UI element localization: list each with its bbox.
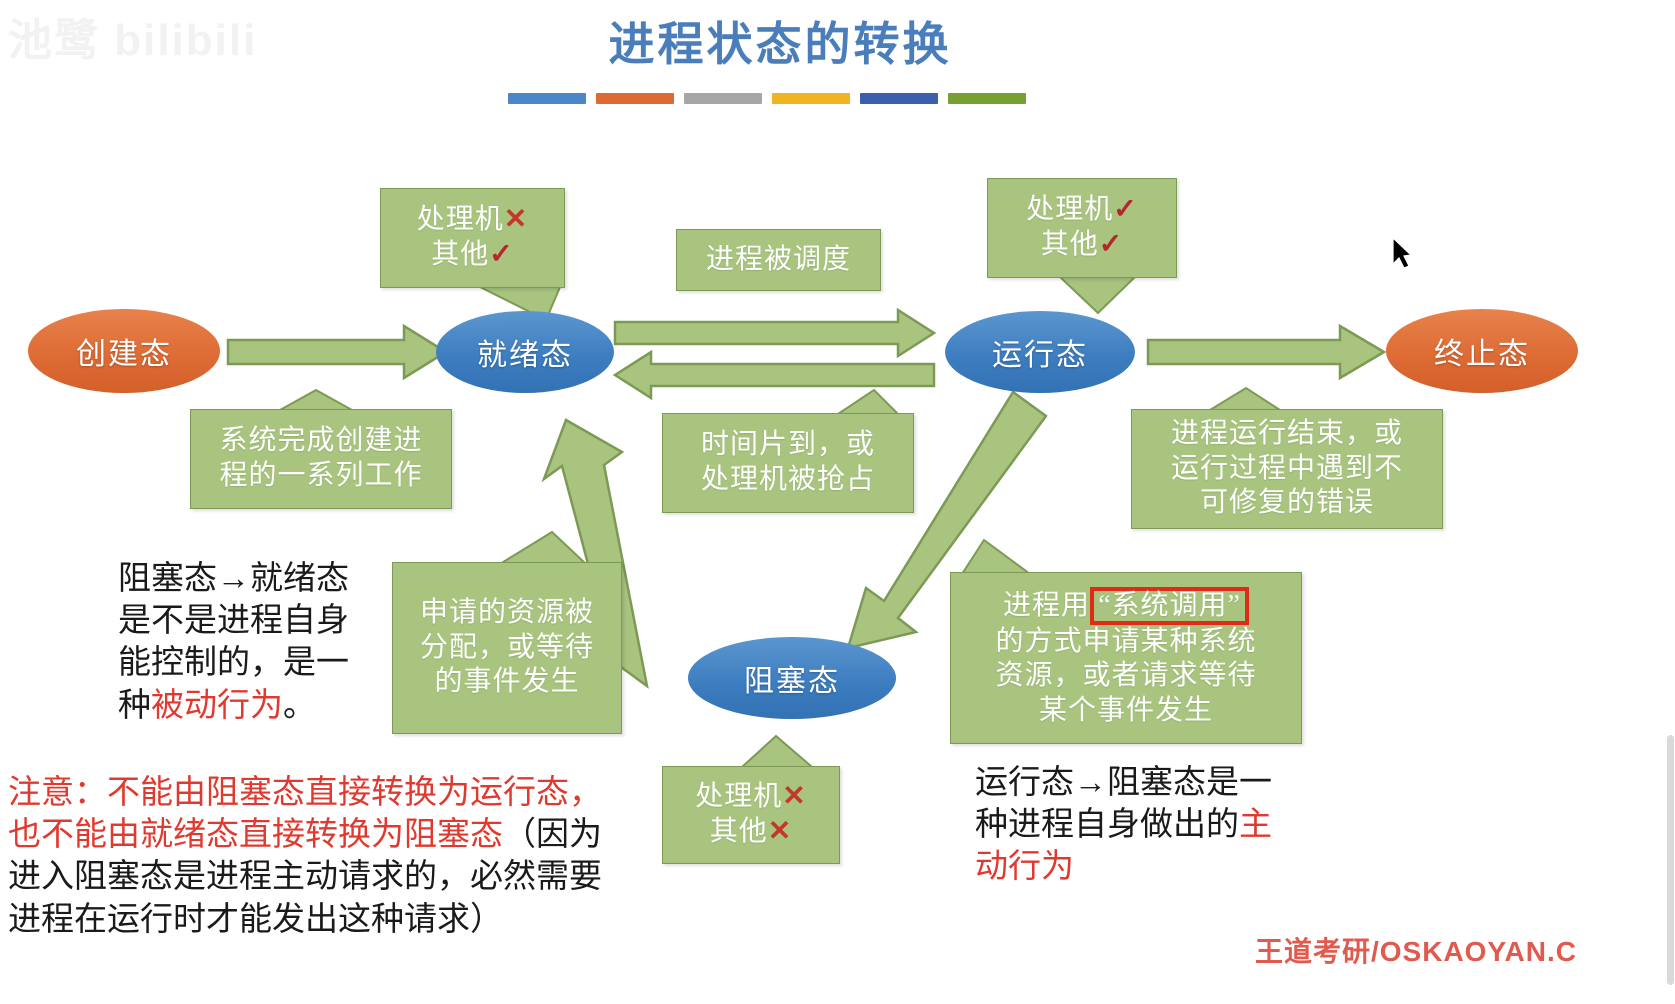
tail-running-to-blocked-box: [962, 540, 1030, 574]
slide-canvas: 池鹭 bilibili 进程状态的转换: [0, 0, 1675, 1004]
page-title: 进程状态的转换: [0, 8, 1560, 74]
note-left-line2: 是不是进程自身: [118, 600, 398, 642]
state-label-running: 运行态: [992, 330, 1088, 374]
blocked-res-mark2: ✕: [768, 816, 792, 847]
title-bar-1: [508, 93, 586, 104]
scrollbar-thumb[interactable]: [1667, 735, 1674, 985]
state-label-blocked: 阻塞态: [744, 656, 840, 700]
note-left-line4-post: 。: [283, 688, 316, 724]
title-bar-2: [596, 93, 674, 104]
r2t-line1: 进程运行结束，或: [1171, 417, 1403, 452]
warning-line3: 进入阻塞态是进程主动请求的，必然需要: [8, 856, 638, 898]
state-label-terminated: 终止态: [1434, 329, 1530, 373]
state-label-ready: 就绪态: [477, 330, 573, 374]
ready-res-mark1: ✕: [504, 204, 528, 235]
callout-running-to-blocked: 进程用“系统调用” 的方式申请某种系统 资源，或者请求等待 某个事件发生: [950, 572, 1302, 744]
r2r-line2: 处理机被抢占: [701, 463, 875, 498]
callout-running-to-terminated: 进程运行结束，或 运行过程中遇到不 可修复的错误: [1131, 409, 1443, 529]
state-node-terminated[interactable]: 终止态: [1386, 309, 1578, 393]
scrollbar[interactable]: [1666, 0, 1675, 1004]
note-right-line3: 动行为: [975, 846, 1305, 888]
callout-running-to-ready: 时间片到，或 处理机被抢占: [662, 413, 914, 513]
callout-scheduled: 进程被调度: [676, 229, 881, 291]
warning-line4: 进程在运行时才能发出这种请求）: [8, 899, 638, 941]
title-bar-3: [684, 93, 762, 104]
ready-res-line2: 其他: [431, 239, 489, 270]
r2b-line3: 资源，或者请求等待: [995, 659, 1256, 694]
ready-res-mark2: ✓: [489, 239, 513, 270]
r2t-line3: 可修复的错误: [1171, 486, 1403, 521]
arrow-ready-to-running: [615, 310, 934, 356]
note-left-line3: 能控制的，是一: [118, 642, 398, 684]
title-decoration-bars: [508, 93, 1026, 104]
running-res-line1: 处理机: [1026, 194, 1113, 225]
title-bar-4: [772, 93, 850, 104]
tail-create-to-ready: [280, 390, 352, 410]
callout-ready-resources: 处理机✕ 其他✓: [380, 188, 565, 288]
note-left-line4-red: 被动行为: [151, 688, 283, 724]
blocked-res-mark1: ✕: [782, 781, 806, 812]
r2b-line1-pre: 进程用: [1003, 590, 1090, 621]
blocked-res-line1: 处理机: [695, 781, 782, 812]
c2r-line2: 程的一系列工作: [219, 459, 422, 494]
note-left-line4-pre: 种: [118, 688, 151, 724]
note-right-line2-red: 主: [1239, 807, 1272, 843]
title-bar-6: [948, 93, 1026, 104]
b2r-line2: 分配，或等待: [420, 631, 594, 666]
scheduled-text: 进程被调度: [706, 243, 851, 278]
callout-running-resources: 处理机✓ 其他✓: [987, 178, 1177, 278]
running-res-line2: 其他: [1041, 229, 1099, 260]
arrow-running-to-terminated: [1148, 326, 1384, 378]
callout-blocked-to-ready: 申请的资源被 分配，或等待 的事件发生: [392, 562, 622, 734]
state-node-blocked[interactable]: 阻塞态: [688, 637, 896, 719]
running-res-mark2: ✓: [1099, 229, 1123, 260]
ready-res-line1: 处理机: [417, 204, 504, 235]
note-left: 阻塞态→就绪态 是不是进程自身 能控制的，是一 种被动行为。: [118, 558, 398, 727]
warning-line2-tail: （因为: [503, 817, 602, 853]
c2r-line1: 系统完成创建进: [219, 424, 422, 459]
arrow-running-to-ready: [615, 352, 934, 398]
r2b-line1-highlight: “系统调用”: [1090, 587, 1249, 624]
blocked-res-line2: 其他: [710, 816, 768, 847]
b2r-line1: 申请的资源被: [420, 596, 594, 631]
tail-running-resources: [1060, 277, 1135, 313]
r2b-line4: 某个事件发生: [995, 694, 1256, 729]
callout-blocked-resources: 处理机✕ 其他✕: [662, 766, 840, 864]
running-res-mark1: ✓: [1113, 194, 1137, 225]
note-warning: 注意：不能由阻塞态直接转换为运行态， 也不能由就绪态直接转换为阻塞态（因为 进入…: [8, 772, 638, 941]
state-node-create[interactable]: 创建态: [28, 309, 220, 393]
tail-blocked-resources: [742, 736, 812, 767]
note-right-line1: 运行态→阻塞态是一: [975, 762, 1305, 804]
tail-running-to-ready-box: [838, 390, 898, 414]
arrow-create-to-ready: [228, 326, 446, 378]
note-right-line2-pre: 种进程自身做出的: [975, 807, 1239, 843]
callout-create-to-ready: 系统完成创建进 程的一系列工作: [190, 409, 452, 509]
r2r-line1: 时间片到，或: [701, 428, 875, 463]
r2t-line2: 运行过程中遇到不: [1171, 452, 1403, 487]
note-right: 运行态→阻塞态是一 种进程自身做出的主 动行为: [975, 762, 1305, 889]
warning-line2-red: 也不能由就绪态直接转换为阻塞态: [8, 817, 503, 853]
r2b-line2: 的方式申请某种系统: [995, 625, 1256, 660]
tail-blocked-to-ready-box: [500, 532, 586, 564]
tail-running-to-term: [1210, 388, 1280, 410]
title-bar-5: [860, 93, 938, 104]
state-label-create: 创建态: [76, 329, 172, 373]
state-node-running[interactable]: 运行态: [945, 311, 1135, 393]
footer-watermark: 王道考研/OSKAOYAN.C: [1255, 930, 1577, 970]
warning-line1: 注意：不能由阻塞态直接转换为运行态，: [8, 772, 638, 814]
note-left-line1: 阻塞态→就绪态: [118, 558, 398, 600]
b2r-line3: 的事件发生: [420, 665, 594, 700]
state-node-ready[interactable]: 就绪态: [436, 311, 614, 393]
